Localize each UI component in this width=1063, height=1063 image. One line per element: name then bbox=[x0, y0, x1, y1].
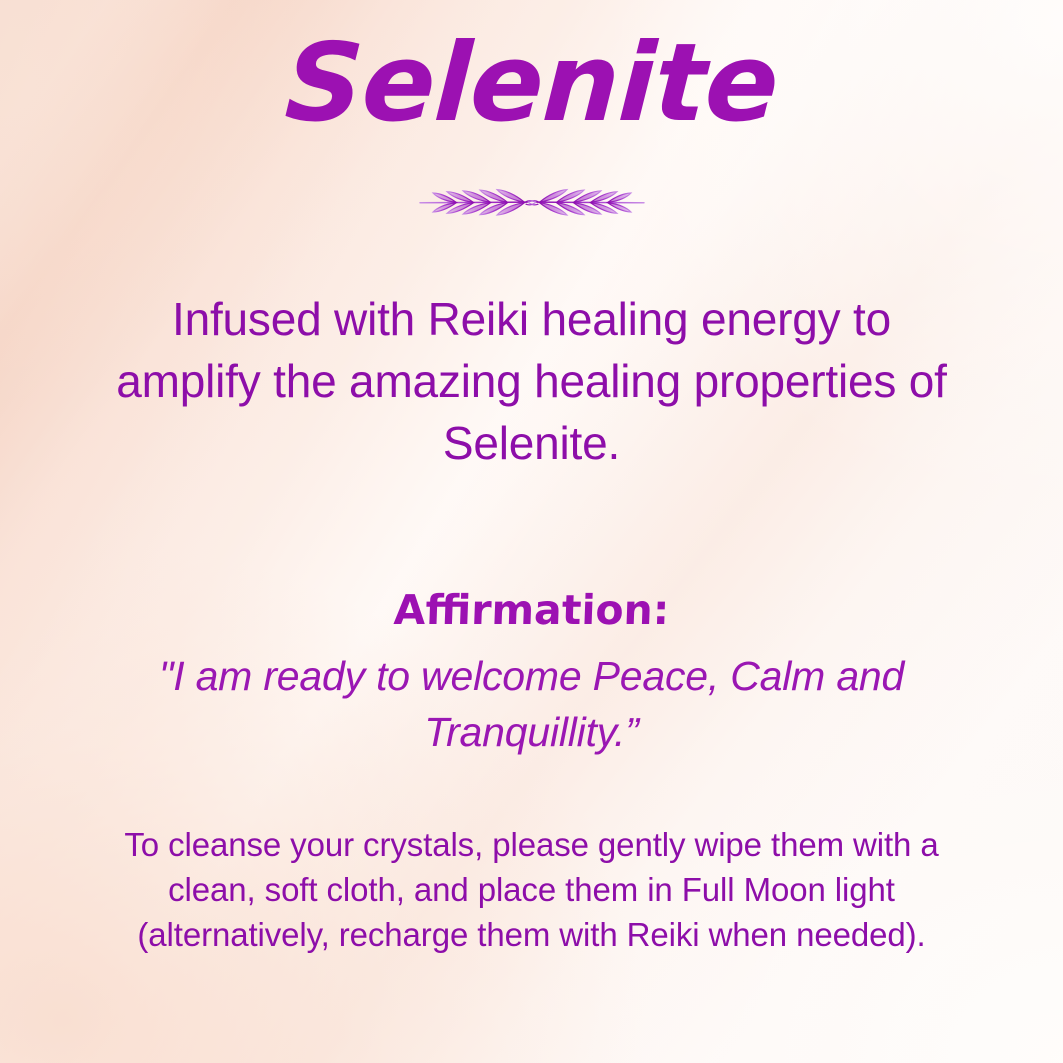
care-line: To cleanse your crystals, please gently … bbox=[56, 822, 1007, 867]
care-line: (alternatively, recharge them with Reiki… bbox=[56, 912, 1007, 957]
affirmation-heading: Affirmation: bbox=[0, 586, 1063, 634]
intro-line: Infused with Reiki healing energy to bbox=[56, 288, 1007, 350]
affirmation-line: "I am ready to welcome Peace, Calm and bbox=[80, 648, 983, 704]
card-content: Selenite bbox=[0, 0, 1063, 1063]
intro-line: amplify the amazing healing properties o… bbox=[56, 350, 1007, 412]
affirmation-quote: "I am ready to welcome Peace, Calm and T… bbox=[80, 648, 983, 760]
intro-paragraph: Infused with Reiki healing energy to amp… bbox=[56, 288, 1007, 474]
page-title: Selenite bbox=[0, 30, 1063, 138]
care-instructions-paragraph: To cleanse your crystals, please gently … bbox=[56, 822, 1007, 957]
care-line: clean, soft cloth, and place them in Ful… bbox=[56, 867, 1007, 912]
intro-line: Selenite. bbox=[56, 412, 1007, 474]
laurel-leaf-divider-icon bbox=[412, 176, 652, 228]
selenite-info-card: Selenite bbox=[0, 0, 1063, 1063]
affirmation-line: Tranquillity.” bbox=[80, 704, 983, 760]
